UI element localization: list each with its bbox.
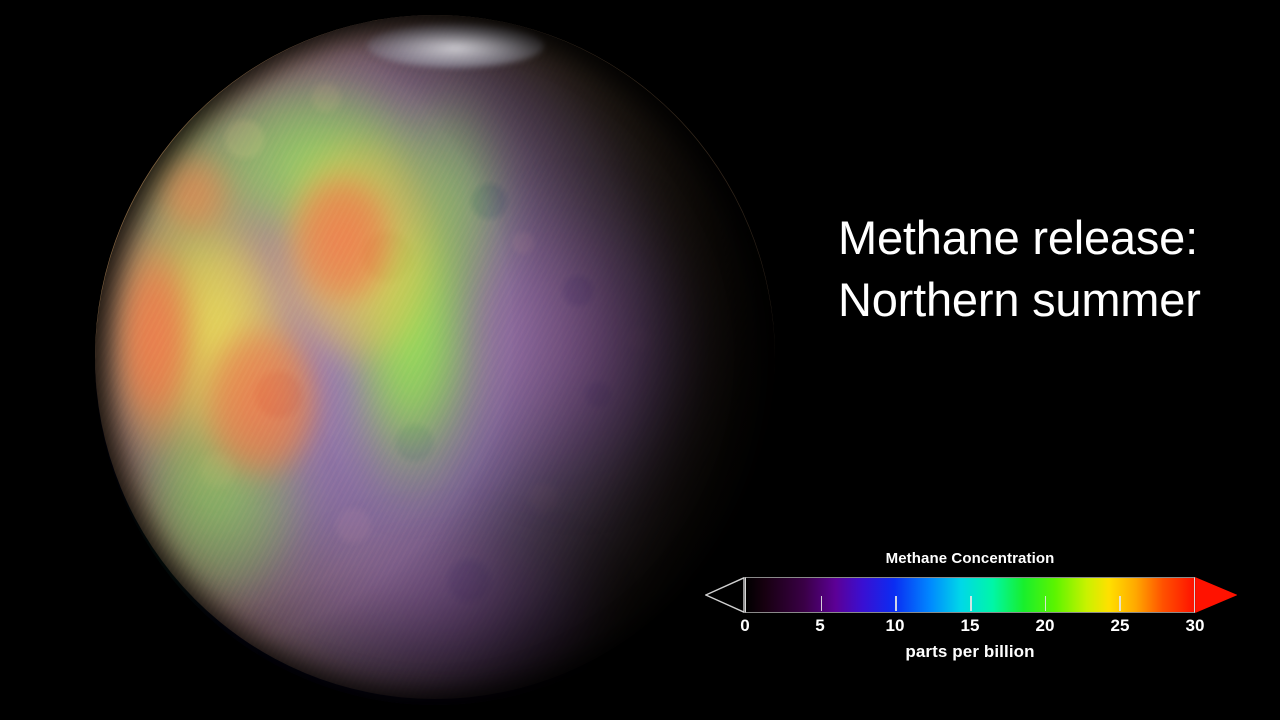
colorbar-gradient[interactable] [745, 577, 1195, 613]
colorbar-title: Methane Concentration [705, 550, 1235, 567]
visualization-canvas: Methane release: Northern summer Methane… [0, 0, 1280, 720]
colorbar-legend: Methane Concentration 0 5 10 15 20 25 [705, 550, 1235, 662]
colorbar-tick-20 [1045, 596, 1047, 611]
colorbar-units-label: parts per billion [705, 642, 1235, 662]
colorbar-tick-15 [970, 596, 972, 611]
colorbar-tick-label-15: 15 [961, 616, 980, 636]
colorbar-overflow-arrow-icon [1195, 577, 1237, 613]
colorbar-tick-label-0: 0 [740, 616, 749, 636]
page-title: Methane release: Northern summer [838, 207, 1258, 330]
title-line-1: Methane release: [838, 207, 1258, 269]
colorbar-tick-label-5: 5 [815, 616, 824, 636]
colorbar-tick-25 [1119, 596, 1121, 611]
colorbar-tick-label-25: 25 [1111, 616, 1130, 636]
colorbar-tick-5 [821, 596, 823, 611]
mars-globe [95, 15, 775, 705]
colorbar-tick-10 [895, 596, 897, 611]
colorbar-tick-label-20: 20 [1036, 616, 1055, 636]
colorbar-tick-labels: 0 5 10 15 20 25 30 [705, 616, 1235, 640]
colorbar-underflow-arrow-icon [705, 577, 745, 613]
colorbar-tick-label-10: 10 [886, 616, 905, 636]
title-line-2: Northern summer [838, 269, 1258, 331]
limb-feather [95, 15, 775, 705]
colorbar-tick-label-30: 30 [1186, 616, 1205, 636]
colorbar-row [705, 576, 1235, 614]
